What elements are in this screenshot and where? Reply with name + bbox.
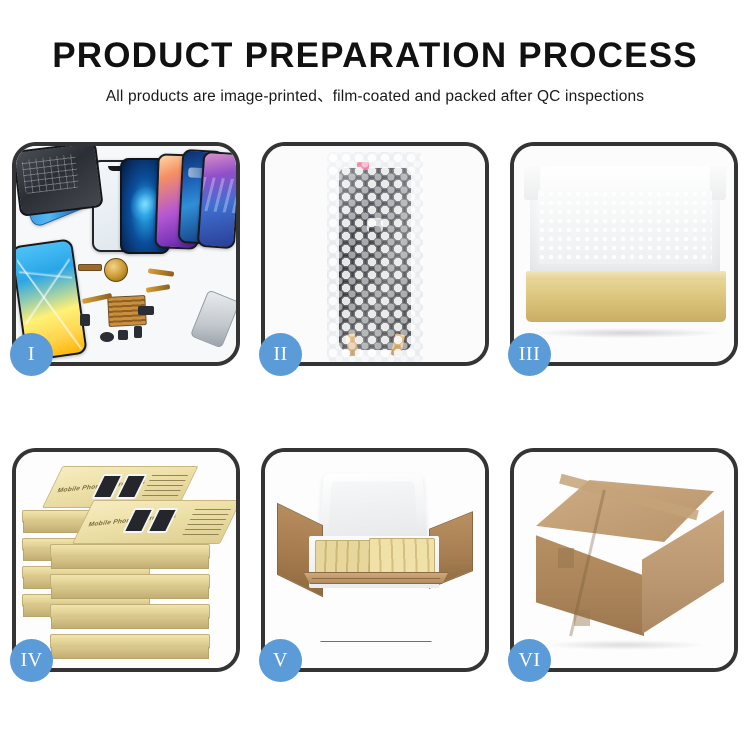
spec-lines [139, 475, 188, 501]
carton-front-panel [303, 578, 449, 642]
small-part-icon [78, 264, 102, 271]
white-foam-sheet-icon [538, 190, 712, 264]
plastic-sheen [327, 152, 423, 362]
small-part-icon [118, 330, 128, 340]
stacked-box [50, 544, 210, 559]
small-part-icon [134, 326, 142, 338]
step-badge-5: V [259, 639, 302, 682]
bubble-wrap-bag-icon [327, 152, 423, 362]
step-panel-5: V [261, 448, 489, 672]
step-panel-3: III [510, 142, 738, 366]
drop-shadow [544, 640, 704, 650]
stacked-box [50, 604, 210, 619]
step-5-image [265, 452, 485, 668]
stacked-box [50, 634, 210, 649]
step-panel-4: Mobile Phone Spare Parts Mobile Phone Sp… [12, 448, 240, 672]
phone-mainboard-icon [16, 146, 104, 217]
page-header: PRODUCT PREPARATION PROCESS All products… [0, 0, 750, 105]
step-badge-4: IV [10, 639, 53, 682]
product-preparation-process-page: PRODUCT PREPARATION PROCESS All products… [0, 0, 750, 750]
foam-lid-icon [318, 474, 428, 545]
stacked-box [50, 574, 210, 589]
step-1-image [16, 146, 236, 362]
gold-box-tray-icon [526, 278, 726, 322]
step-badge-2: II [259, 333, 302, 376]
phone-screen-icon [197, 151, 236, 249]
drop-shadow [534, 328, 720, 338]
spec-lines [182, 509, 231, 535]
small-part-icon [100, 332, 114, 342]
step-panel-6: VI [510, 448, 738, 672]
step-badge-3: III [508, 333, 551, 376]
step-badge-6: VI [508, 639, 551, 682]
speaker-coil-icon [104, 258, 128, 282]
step-badge-1: I [10, 333, 53, 376]
step-panel-1: I [12, 142, 240, 366]
step-2-image [265, 146, 485, 362]
process-steps-grid: I II [12, 142, 738, 672]
second-box-lid: Mobile Phone Spare Parts [72, 500, 236, 544]
page-title: PRODUCT PREPARATION PROCESS [0, 38, 750, 73]
step-4-image: Mobile Phone Spare Parts Mobile Phone Sp… [16, 452, 236, 668]
small-part-icon [80, 314, 90, 326]
step-6-image [514, 452, 734, 668]
carton-tab [558, 548, 574, 568]
small-part-icon [138, 306, 154, 315]
step-panel-2: II [261, 142, 489, 366]
page-subtitle: All products are image-printed、film-coat… [0, 89, 750, 105]
step-3-image [514, 146, 734, 362]
carton-tab [574, 610, 590, 626]
